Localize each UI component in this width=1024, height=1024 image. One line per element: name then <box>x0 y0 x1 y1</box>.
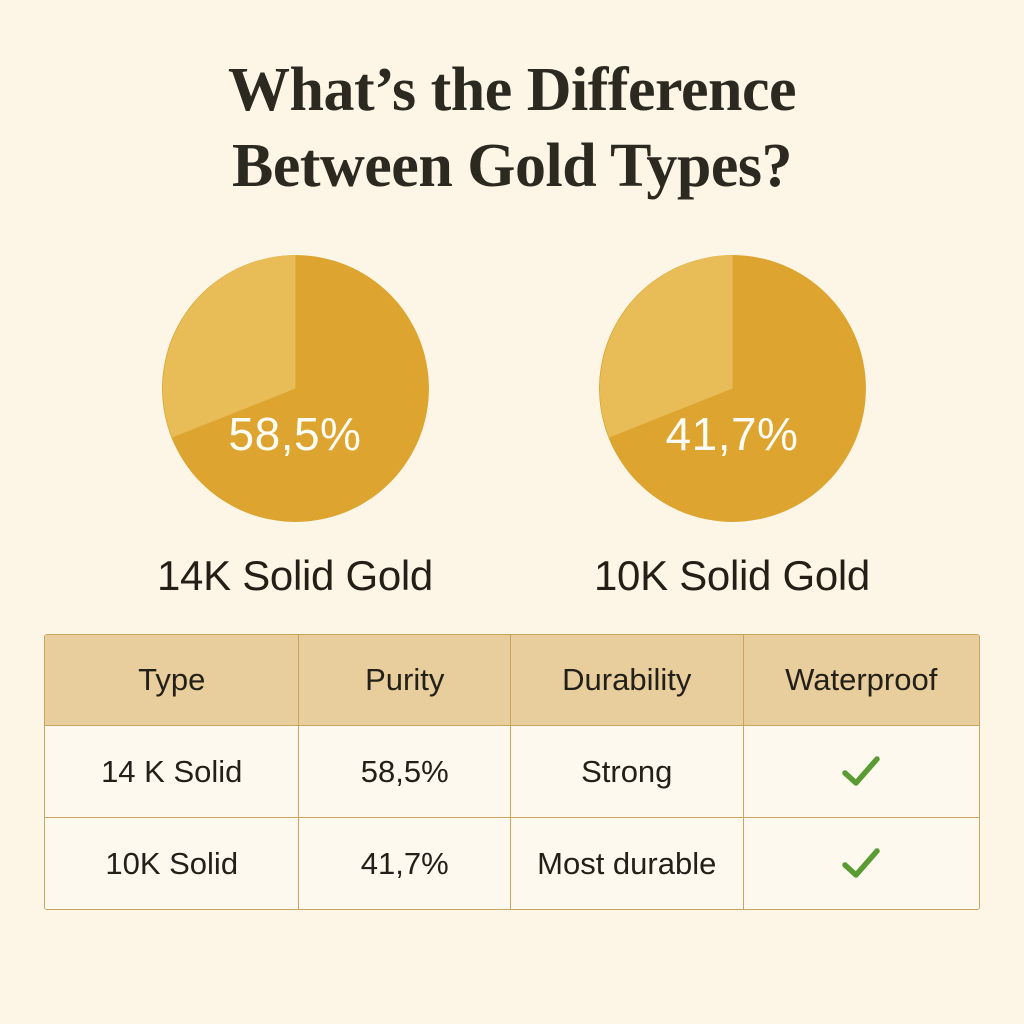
pie-svg-10k <box>599 255 866 522</box>
pie-svg-14k <box>162 255 429 522</box>
cell-purity-14k: 58,5% <box>299 726 511 817</box>
pie-chart-group: 58,5% 14K Solid Gold 41,7% 10K Solid Gol… <box>0 255 1024 545</box>
pie-chart-14k: 58,5% 14K Solid Gold <box>145 255 445 522</box>
checkmark-icon <box>841 755 881 789</box>
table-header-row: Type Purity Durability Waterproof <box>45 635 979 725</box>
pie-caption-14k: 14K Solid Gold <box>145 552 445 600</box>
table-header-waterproof: Waterproof <box>744 635 980 725</box>
cell-waterproof-10k <box>744 818 980 909</box>
table-header-durability: Durability <box>511 635 744 725</box>
cell-durability-10k: Most durable <box>511 818 744 909</box>
cell-waterproof-14k <box>744 726 980 817</box>
title-line-2: Between Gold Types? <box>0 128 1024 204</box>
infographic-canvas: What’s the Difference Between Gold Types… <box>0 0 1024 1024</box>
cell-type-10k: 10K Solid <box>45 818 299 909</box>
pie-caption-10k: 10K Solid Gold <box>582 552 882 600</box>
table-header-purity: Purity <box>299 635 511 725</box>
checkmark-icon <box>841 847 881 881</box>
pie-graphic-14k <box>162 255 429 522</box>
cell-durability-14k: Strong <box>511 726 744 817</box>
comparison-table: Type Purity Durability Waterproof 14 K S… <box>44 634 980 910</box>
title-line-1: What’s the Difference <box>0 52 1024 128</box>
page-title: What’s the Difference Between Gold Types… <box>0 52 1024 204</box>
cell-type-14k: 14 K Solid <box>45 726 299 817</box>
pie-chart-10k: 41,7% 10K Solid Gold <box>582 255 882 522</box>
table-row: 10K Solid 41,7% Most durable <box>45 817 979 909</box>
cell-purity-10k: 41,7% <box>299 818 511 909</box>
table-row: 14 K Solid 58,5% Strong <box>45 725 979 817</box>
table-header-type: Type <box>45 635 299 725</box>
pie-graphic-10k <box>599 255 866 522</box>
